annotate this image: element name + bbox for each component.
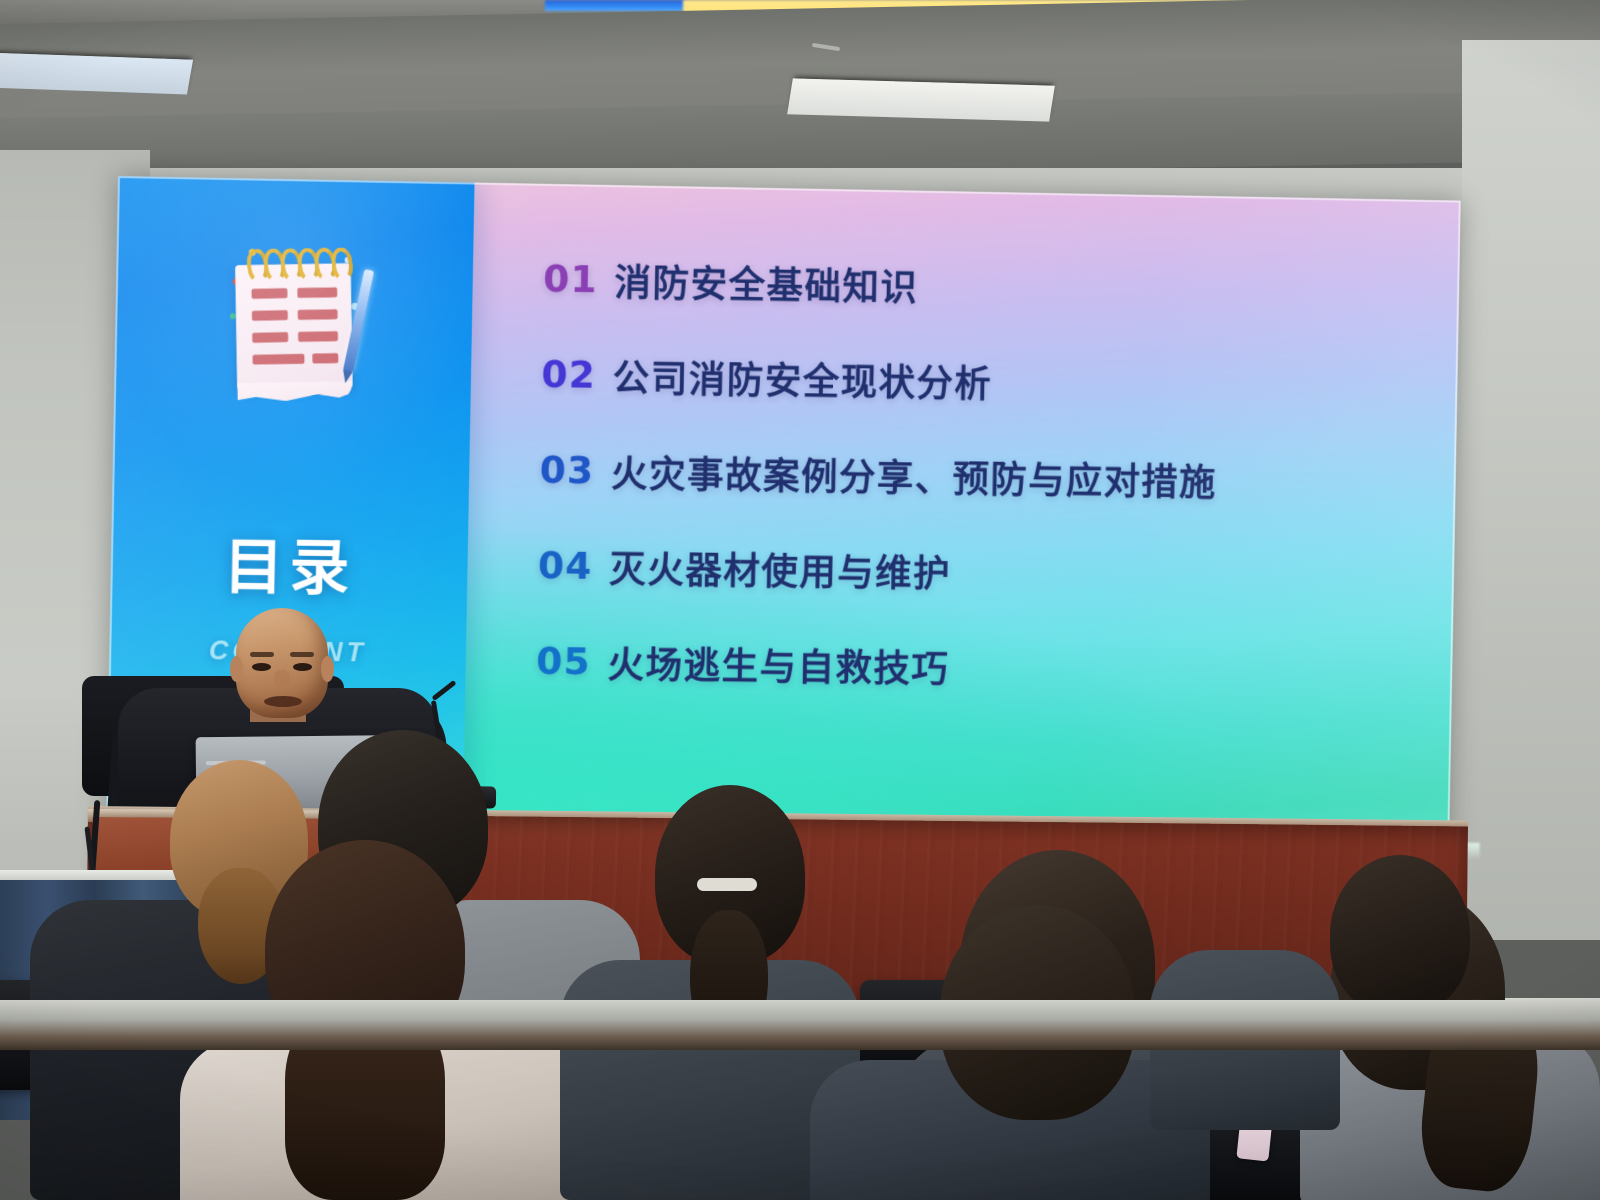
conference-room-scene: 目录 CONTENT 01 消防安全基础知识 02 公司消防安全现状分析 03 …	[0, 0, 1600, 1200]
presenter-nose	[274, 670, 290, 690]
hair-tie	[697, 878, 757, 891]
presenter-mouth	[264, 696, 302, 707]
ceiling-light-panel-center	[787, 78, 1055, 121]
ceiling-light-panel-left	[0, 53, 193, 95]
right-wall	[1462, 40, 1600, 940]
front-desk-edge	[0, 1000, 1600, 1050]
ceiling-blue-light-strip	[545, 0, 687, 11]
